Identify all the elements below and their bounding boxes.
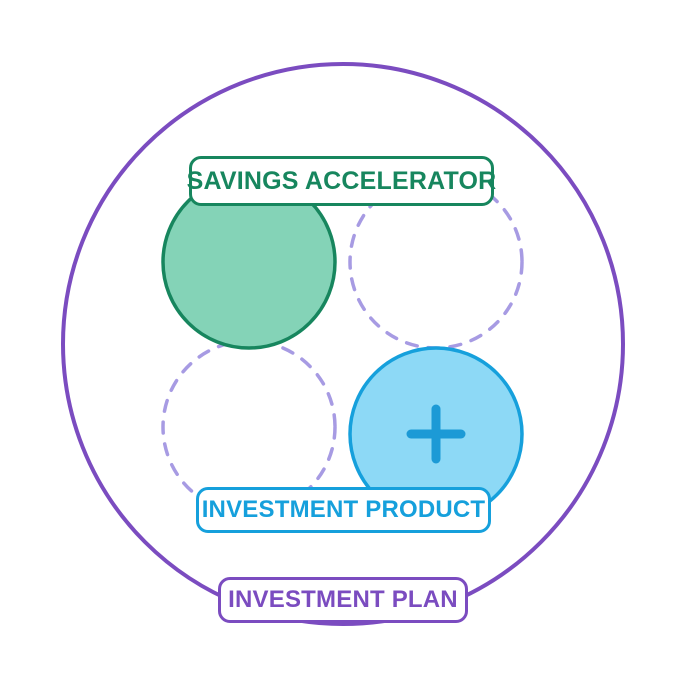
label-investment-product-text: INVESTMENT PRODUCT [202, 498, 486, 522]
label-investment-product[interactable]: INVESTMENT PRODUCT [196, 487, 491, 533]
label-savings-accelerator-text: SAVINGS ACCELERATOR [187, 169, 497, 194]
label-investment-plan-text: INVESTMENT PLAN [228, 588, 458, 612]
diagram-canvas: SAVINGS ACCELERATOR INVESTMENT PRODUCT I… [0, 0, 686, 700]
label-savings-accelerator[interactable]: SAVINGS ACCELERATOR [189, 156, 494, 206]
investment-plan-ring[interactable] [63, 64, 623, 624]
label-investment-plan[interactable]: INVESTMENT PLAN [218, 577, 468, 623]
